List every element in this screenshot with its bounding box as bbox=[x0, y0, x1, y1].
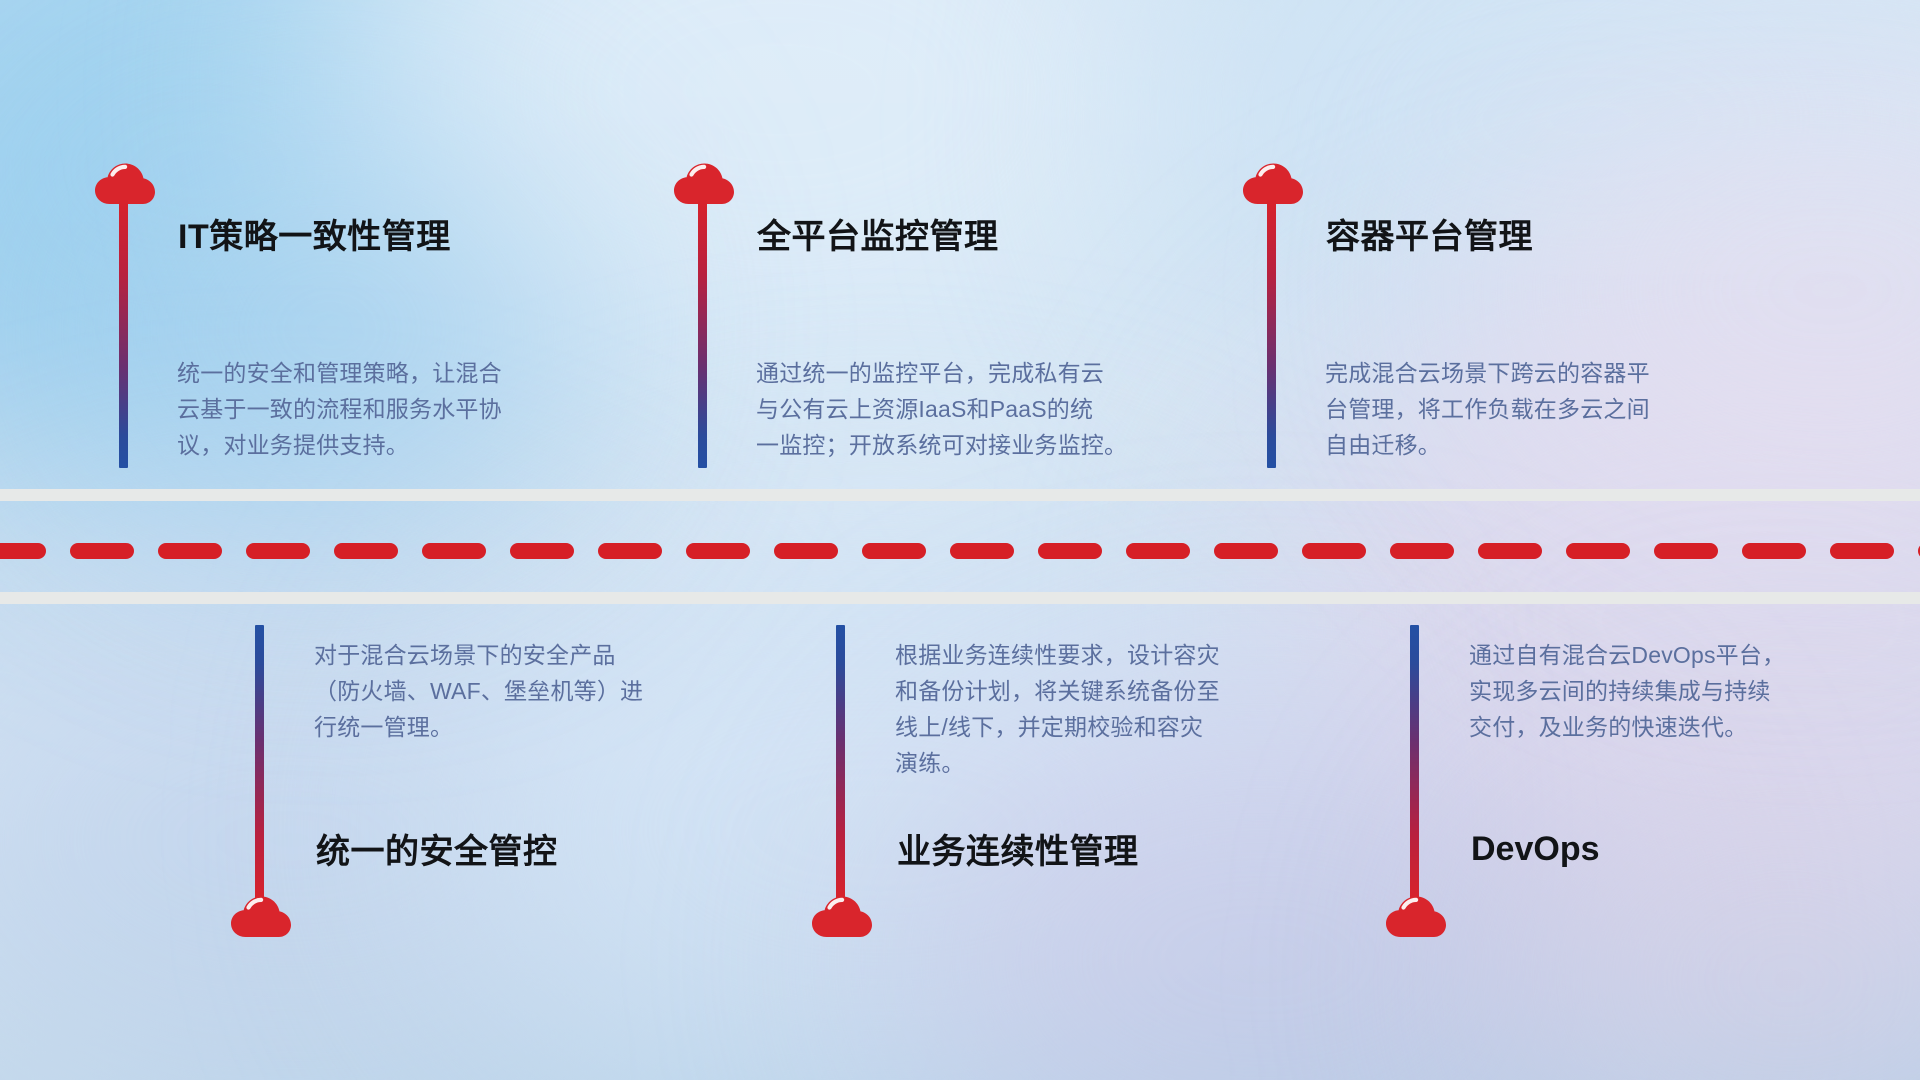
bottom-item-body: 通过自有混合云DevOps平台， 实现多云间的持续集成与持续 交付，及业务的快速… bbox=[1469, 637, 1899, 745]
cloud-icon bbox=[1383, 893, 1447, 939]
divider-dash bbox=[686, 543, 750, 559]
timeline-stem bbox=[698, 200, 707, 468]
bottom-item-title: 统一的安全管控 bbox=[316, 835, 558, 869]
divider-dash bbox=[774, 543, 838, 559]
timeline-stem bbox=[836, 625, 845, 900]
divider-dash bbox=[1390, 543, 1454, 559]
divider-dash bbox=[598, 543, 662, 559]
top-item-title: 容器平台管理 bbox=[1326, 220, 1533, 254]
timeline-stem bbox=[1410, 625, 1419, 900]
divider-dashed-line bbox=[0, 543, 1920, 559]
divider-bar-bottom bbox=[0, 592, 1920, 604]
timeline-stem bbox=[1267, 200, 1276, 468]
bottom-item-body: 根据业务连续性要求，设计容灾 和备份计划，将关键系统备份至 线上/线下，并定期校… bbox=[895, 637, 1325, 781]
divider-dash bbox=[1654, 543, 1718, 559]
divider-dash bbox=[1478, 543, 1542, 559]
bottom-item-body: 对于混合云场景下的安全产品 （防火墙、WAF、堡垒机等）进 行统一管理。 bbox=[314, 637, 744, 745]
divider-dash bbox=[0, 543, 46, 559]
top-item-body: 统一的安全和管理策略，让混合 云基于一致的流程和服务水平协 议，对业务提供支持。 bbox=[177, 355, 607, 463]
divider-dash bbox=[1214, 543, 1278, 559]
bottom-item-title: 业务连续性管理 bbox=[897, 835, 1139, 869]
cloud-icon bbox=[228, 893, 292, 939]
divider-dash bbox=[246, 543, 310, 559]
divider-dash bbox=[950, 543, 1014, 559]
divider-dash bbox=[334, 543, 398, 559]
divider-dash bbox=[1038, 543, 1102, 559]
top-item-title: 全平台监控管理 bbox=[757, 220, 999, 254]
divider-dash bbox=[70, 543, 134, 559]
divider-dash bbox=[158, 543, 222, 559]
divider-dash bbox=[422, 543, 486, 559]
bottom-item-title: DevOps bbox=[1471, 832, 1600, 866]
divider-dash bbox=[510, 543, 574, 559]
top-item-title: IT策略一致性管理 bbox=[178, 220, 451, 254]
divider-dash bbox=[1830, 543, 1894, 559]
top-item-body: 通过统一的监控平台，完成私有云 与公有云上资源IaaS和PaaS的统 一监控；开… bbox=[756, 355, 1216, 463]
cloud-icon bbox=[809, 893, 873, 939]
divider-dash bbox=[1742, 543, 1806, 559]
divider-dash bbox=[862, 543, 926, 559]
divider-bar-top bbox=[0, 489, 1920, 501]
top-item-body: 完成混合云场景下跨云的容器平 台管理，将工作负载在多云之间 自由迁移。 bbox=[1325, 355, 1765, 463]
timeline-stem bbox=[255, 625, 264, 900]
divider-dash bbox=[1566, 543, 1630, 559]
timeline-stem bbox=[119, 200, 128, 468]
divider-dash bbox=[1126, 543, 1190, 559]
divider-dash bbox=[1302, 543, 1366, 559]
